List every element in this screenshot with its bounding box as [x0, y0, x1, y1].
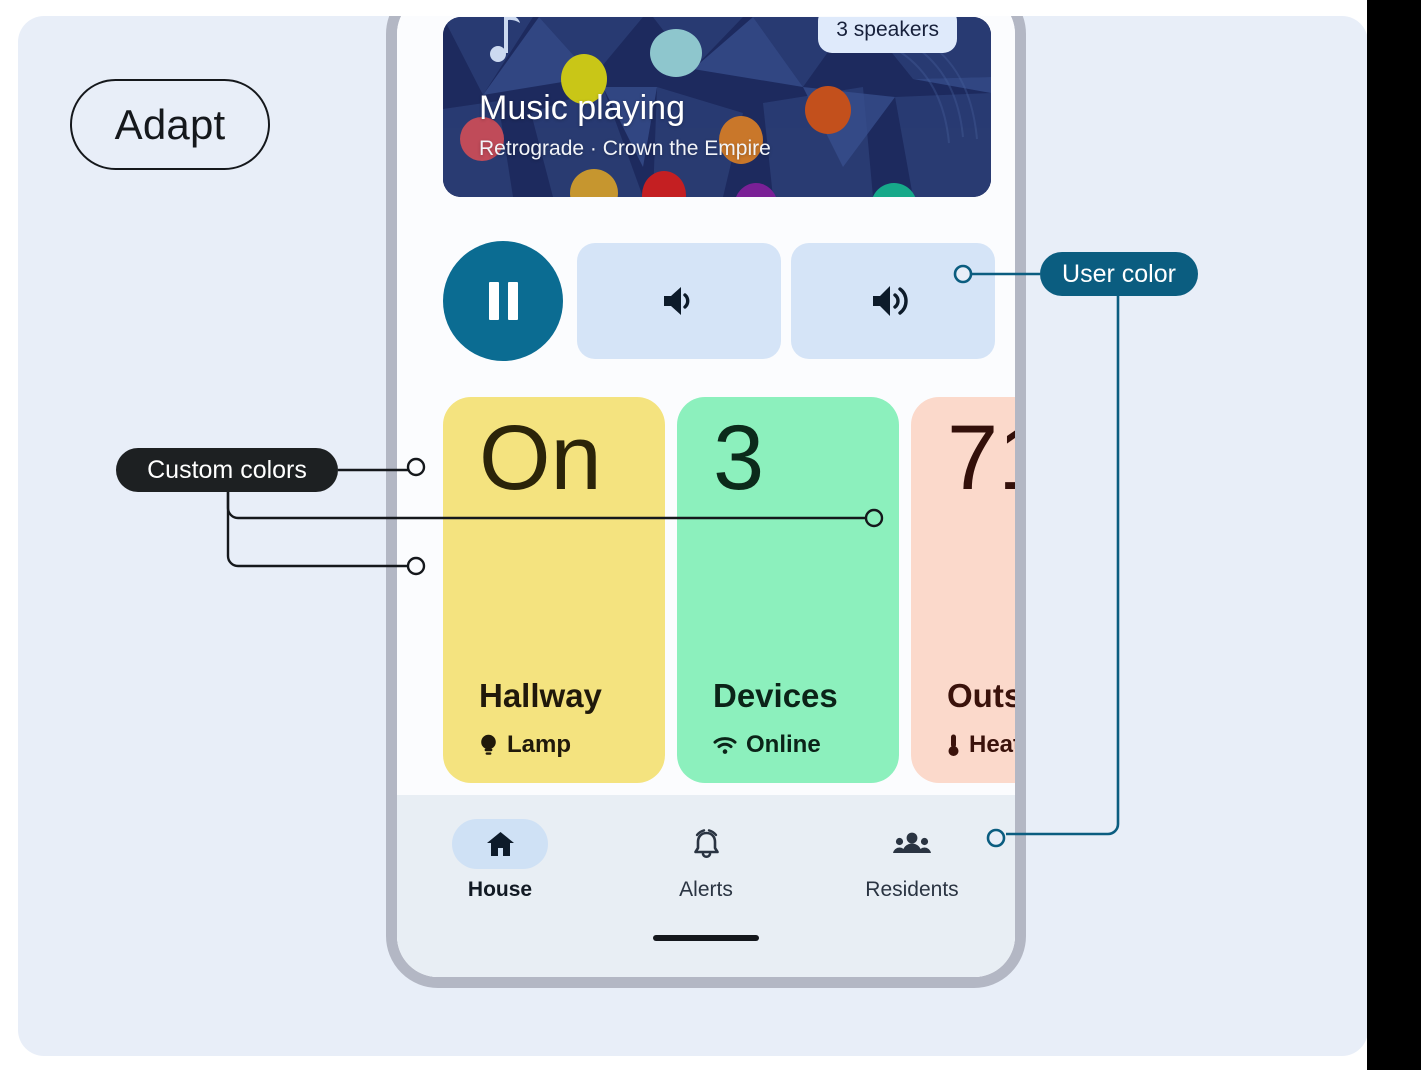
thermometer-icon — [947, 733, 960, 757]
nav-item-residents[interactable]: Residents — [809, 819, 1015, 902]
tile-status: Lamp — [479, 731, 571, 759]
nav-item-alerts[interactable]: Alerts — [603, 819, 809, 902]
volume-up-button[interactable] — [791, 243, 995, 359]
annotation-label: User color — [1062, 260, 1176, 289]
tile-status: Heating — [947, 731, 1015, 759]
nav-label: Residents — [865, 878, 958, 902]
tile-value: 71 — [947, 409, 1015, 508]
now-playing-title: Music playing — [479, 89, 685, 128]
people-icon — [892, 831, 932, 857]
nav-label: Alerts — [679, 878, 733, 902]
nav-active-pill — [452, 819, 548, 869]
page-gutter-right — [1367, 0, 1421, 1070]
tile-grid: On Hallway Lamp — [443, 397, 1015, 783]
home-indicator — [653, 935, 759, 941]
annotation-label: Custom colors — [147, 456, 307, 485]
volume-down-icon — [660, 284, 698, 318]
nav-label: House — [468, 878, 532, 902]
tile-outside[interactable]: 71 Outside Heating — [911, 397, 1015, 783]
tile-name: Outside — [947, 677, 1015, 715]
bell-icon — [690, 828, 723, 860]
house-icon — [485, 830, 516, 858]
nav-item-house[interactable]: House — [397, 819, 603, 902]
tile-name: Devices — [713, 677, 838, 715]
annotation-custom-colors: Custom colors — [116, 448, 338, 492]
tile-value: 3 — [713, 409, 764, 508]
now-playing-subtitle: Retrograde · Crown the Empire — [479, 137, 771, 161]
tile-name: Hallway — [479, 677, 602, 715]
pause-icon — [489, 282, 518, 320]
phone-screen: 3 speakers Music playing Retrograde · Cr… — [397, 16, 1015, 977]
phone-frame: 3 speakers Music playing Retrograde · Cr… — [386, 16, 1026, 988]
now-playing-card[interactable]: 3 speakers Music playing Retrograde · Cr… — [443, 17, 991, 197]
tile-value: On — [479, 409, 602, 508]
tile-status-label: Lamp — [507, 731, 571, 759]
nav-pill — [864, 819, 960, 869]
media-controls — [443, 241, 991, 361]
design-canvas: Adapt — [18, 16, 1368, 1056]
tile-status-label: Online — [746, 731, 821, 759]
page-root: Adapt — [0, 0, 1421, 1070]
speaker-count-badge[interactable]: 3 speakers — [818, 17, 957, 53]
tile-status-label: Heating — [969, 731, 1015, 759]
tile-hallway[interactable]: On Hallway Lamp — [443, 397, 665, 783]
lightbulb-icon — [479, 733, 498, 757]
nav-pill — [658, 819, 754, 869]
adapt-chip-label: Adapt — [115, 101, 226, 149]
wifi-icon — [713, 735, 737, 755]
adapt-chip[interactable]: Adapt — [70, 79, 270, 170]
tile-status: Online — [713, 731, 821, 759]
volume-down-button[interactable] — [577, 243, 781, 359]
annotation-user-color: User color — [1040, 252, 1198, 296]
bottom-navigation: House — [397, 795, 1015, 977]
tile-devices[interactable]: 3 Devices Online — [677, 397, 899, 783]
volume-up-icon — [870, 283, 916, 319]
pause-button[interactable] — [443, 241, 563, 361]
